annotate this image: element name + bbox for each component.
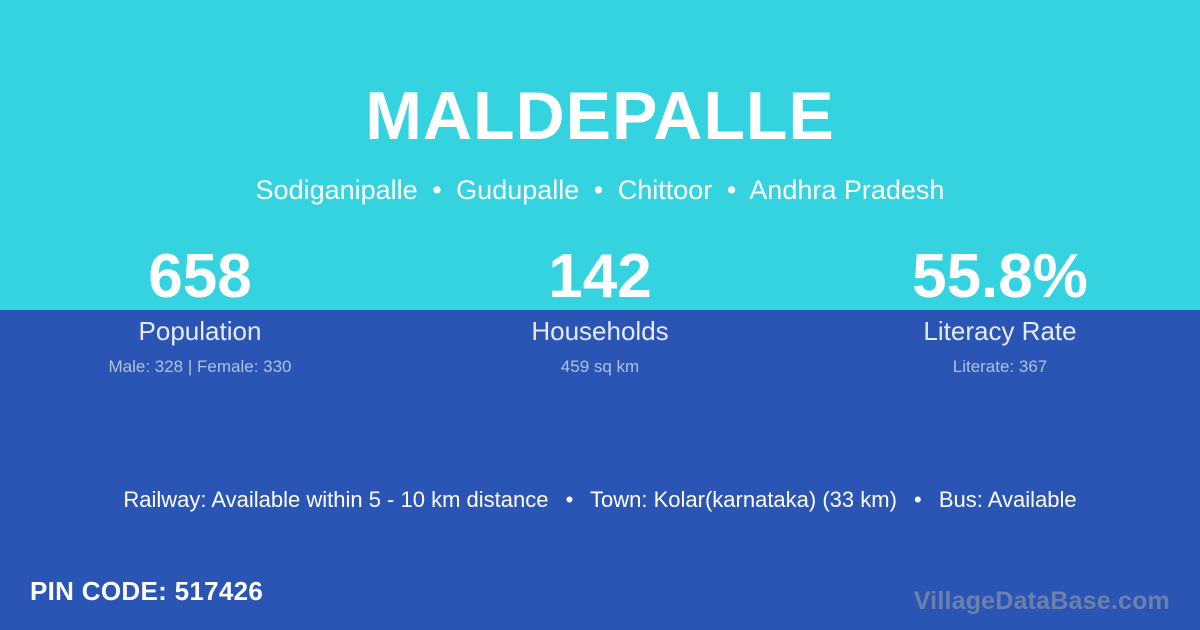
village-info-card: MALDEPALLE Sodiganipalle • Gudupalle • C… (0, 0, 1200, 630)
stat-literacy-rate: 55.8% Literacy Rate Literate: 367 (800, 244, 1200, 378)
stat-label: Literacy Rate (800, 310, 1200, 346)
breadcrumb-separator-icon: • (425, 177, 448, 204)
breadcrumb-item-state: Andhra Pradesh (749, 175, 944, 205)
site-watermark: VillageDataBase.com (914, 586, 1170, 616)
amenity-separator-icon: • (903, 485, 933, 515)
stat-label: Households (400, 310, 800, 346)
stats-row: 658 Population Male: 328 | Female: 330 1… (0, 244, 1200, 378)
stat-value: 142 (400, 244, 800, 310)
breadcrumb-separator-icon: • (587, 177, 610, 204)
amenity-town: Town: Kolar(karnataka) (33 km) (590, 487, 897, 512)
breadcrumb-item-district: Chittoor (618, 175, 713, 205)
breadcrumb-separator-icon: • (720, 177, 743, 204)
stat-sublabel: Literate: 367 (800, 346, 1200, 378)
stat-households: 142 Households 459 sq km (400, 244, 800, 378)
amenities-row: Railway: Available within 5 - 10 km dist… (0, 485, 1200, 515)
amenity-railway: Railway: Available within 5 - 10 km dist… (123, 487, 548, 512)
breadcrumb-item-block: Gudupalle (456, 175, 579, 205)
stat-value: 55.8% (800, 244, 1200, 310)
page-title: MALDEPALLE (0, 0, 1200, 150)
breadcrumb-item-subdistrict: Sodiganipalle (256, 175, 418, 205)
amenity-bus: Bus: Available (939, 487, 1077, 512)
card-footer: PIN CODE: 517426 VillageDataBase.com (0, 570, 1200, 630)
stat-label: Population (0, 310, 400, 346)
stat-population: 658 Population Male: 328 | Female: 330 (0, 244, 400, 378)
breadcrumb: Sodiganipalle • Gudupalle • Chittoor • A… (0, 150, 1200, 204)
stat-sublabel: 459 sq km (400, 346, 800, 378)
stat-value: 658 (0, 244, 400, 310)
stat-sublabel: Male: 328 | Female: 330 (0, 346, 400, 378)
amenity-separator-icon: • (555, 485, 585, 515)
card-header: MALDEPALLE Sodiganipalle • Gudupalle • C… (0, 0, 1200, 204)
pin-code: PIN CODE: 517426 (30, 576, 263, 606)
